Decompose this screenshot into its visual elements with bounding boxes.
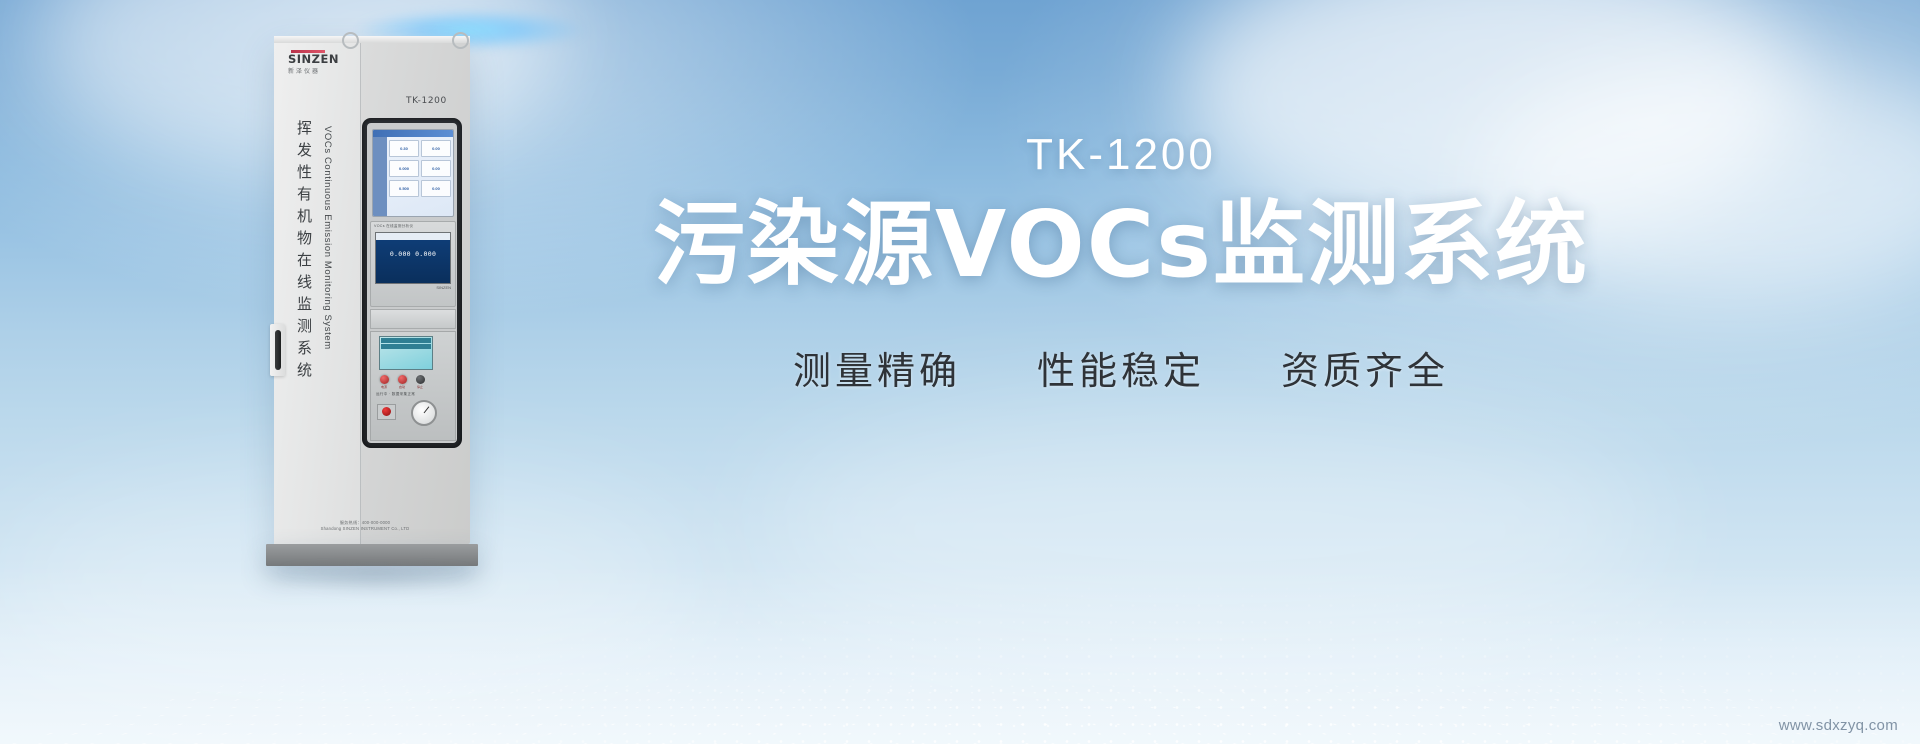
hmi-cell: 0.500 [389,180,419,197]
logo-wordmark: SINZEN [288,53,350,65]
gauge-needle-icon [424,406,430,413]
analyzer-brand: SINZEN [371,285,455,290]
hmi-row: 0.30 0.00 [389,140,451,157]
hmi-readout-grid: 0.30 0.00 0.000 0.00 0.500 0.00 [389,140,451,214]
door-handle-grip [275,330,281,370]
hmi-value: 0.30 [390,141,418,156]
cabinet-vertical-text-en: VOCs Continuous Emission Monitoring Syst… [322,126,333,350]
control-status-line: 运行中 · 数据采集正常 [376,392,455,397]
hmi-title-bar [373,130,453,137]
control-panel: 电源 启动 停止 运行中 · 数据采集正常 [370,331,456,441]
hmi-cell: 0.000 [389,160,419,177]
hmi-cell: 0.00 [421,140,451,157]
instrument-stack: 0.30 0.00 0.000 0.00 0.500 0.00 [367,123,457,443]
hmi-cell: 0.00 [421,160,451,177]
control-display-line [381,338,431,343]
cabinet-base-plinth [266,544,478,566]
cabinet-footer-line-2: Shandong SINZEN INSTRUMENT Co., LTD [280,526,450,532]
hmi-cell: 0.00 [421,180,451,197]
hmi-row: 0.000 0.00 [389,160,451,177]
start-button-label: 启动 [395,385,409,389]
hmi-cell: 0.30 [389,140,419,157]
control-display[interactable] [379,336,433,370]
cabinet-top-edge [274,36,470,43]
blank-panel-slot [370,309,456,329]
door-handle[interactable] [270,324,285,376]
control-button-row [380,375,455,384]
control-button-labels: 电源 启动 停止 [377,385,455,389]
pressure-gauge [411,400,437,426]
control-display-line [381,344,431,349]
emergency-stop-button[interactable] [377,404,396,420]
analyzer-title: VOCs 在线监测分析仪 [371,222,455,231]
banner-copy: TK-1200 污染源VOCs监测系统 测量精确 性能稳定 资质齐全 [556,130,1686,395]
analyzer-module: VOCs 在线监测分析仪 0.000 0.000 SINZEN [370,221,456,307]
hmi-value: 0.00 [422,181,450,196]
banner-model-title: TK-1200 [556,130,1686,180]
product-banner: SINZEN 新泽仪器 TK-1200 挥发性有机物在线监测系统 VOCs Co… [0,0,1920,744]
particle-grid-perspective [0,661,1920,744]
hmi-touch-panel[interactable]: 0.30 0.00 0.000 0.00 0.500 0.00 [372,129,454,217]
cabinet-instrument-window: 0.30 0.00 0.000 0.00 0.500 0.00 [362,118,462,448]
hmi-value: 0.500 [390,181,418,196]
banner-feature-list: 测量精确 性能稳定 资质齐全 [556,340,1686,395]
cabinet-brand-logo: SINZEN 新泽仪器 [288,50,350,75]
power-button[interactable] [380,375,389,384]
lifting-ring-icon [452,32,469,49]
analyzer-screen-header [376,233,450,240]
site-watermark: www.sdxzyq.com [1779,717,1898,734]
power-button-label: 电源 [377,385,391,389]
stop-knob[interactable] [416,375,425,384]
cabinet-footer-text: 服务热线：400-000-0000 Shandong SINZEN INSTRU… [280,520,450,532]
feature-item-1: 测量精确 [793,340,961,395]
start-button[interactable] [398,375,407,384]
analyzer-screen: 0.000 0.000 [375,232,451,284]
hmi-side-nav[interactable] [373,137,387,216]
cabinet-vertical-text-cn: 挥发性有机物在线监测系统 [294,120,314,384]
cloud-bloom-4 [760,400,1660,660]
hmi-row: 0.500 0.00 [389,180,451,197]
feature-item-3: 资质齐全 [1281,340,1449,395]
logo-wordmark-cn: 新泽仪器 [288,66,350,75]
analyzer-reading: 0.000 0.000 [376,250,450,258]
cabinet-model-label: TK-1200 [406,96,447,106]
feature-item-2: 性能稳定 [1037,340,1205,395]
banner-headline: 污染源VOCs监测系统 [556,196,1686,294]
hmi-value: 0.00 [422,161,450,176]
emergency-stop-icon [382,407,391,416]
stop-knob-label: 停止 [413,385,427,389]
hmi-value: 0.00 [422,141,450,156]
product-cabinet: SINZEN 新泽仪器 TK-1200 挥发性有机物在线监测系统 VOCs Co… [266,22,490,562]
lifting-ring-icon [342,32,359,49]
hmi-value: 0.000 [390,161,418,176]
cabinet-ground-shadow [276,568,476,596]
cabinet-left-door [274,36,361,544]
